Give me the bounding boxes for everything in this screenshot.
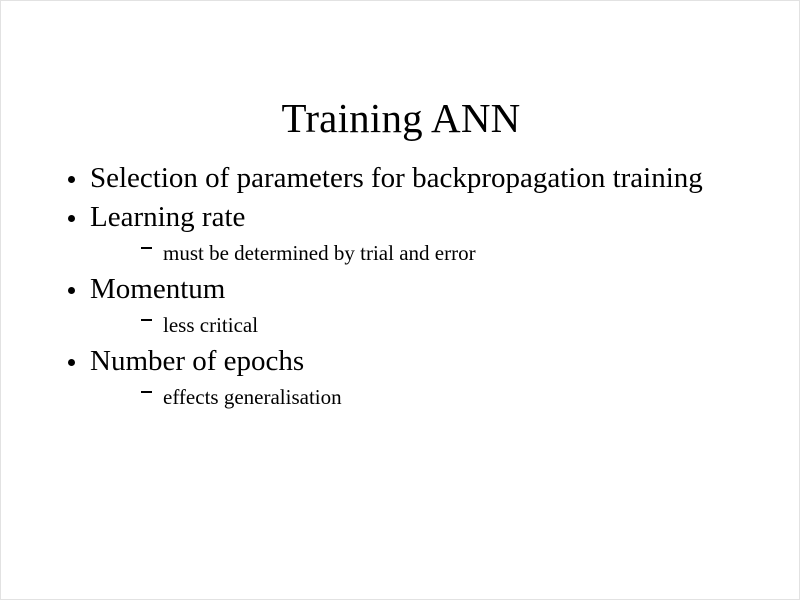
list-item: Learning rate must be determined by tria… [57,200,747,268]
sub-list-item: effects generalisation [90,382,747,412]
sub-bullet-text: less critical [163,310,747,340]
sub-list-item: less critical [90,310,747,340]
bullet-text: Selection of parameters for backpropagat… [90,161,705,196]
presentation-slide: Training ANN Selection of parameters for… [0,0,800,600]
bullet-dash-icon [141,391,152,393]
bullet-text: Momentum [90,272,705,307]
list-item: Momentum less critical [57,272,747,340]
slide-body: Selection of parameters for backpropagat… [57,161,747,416]
list-item: Selection of parameters for backpropagat… [57,161,747,196]
bullet-text: Number of epochs [90,344,705,379]
sub-bullet-text: must be determined by trial and error [163,238,747,268]
bullet-list: Selection of parameters for backpropagat… [57,161,747,412]
sub-list-item: must be determined by trial and error [90,238,747,268]
sub-bullet-text: effects generalisation [163,382,747,412]
bullet-dot-icon [68,287,75,294]
bullet-dash-icon [141,247,152,249]
sub-bullet-list: less critical [90,310,747,340]
bullet-dot-icon [68,215,75,222]
bullet-text: Learning rate [90,200,705,235]
bullet-dot-icon [68,359,75,366]
bullet-dash-icon [141,319,152,321]
sub-bullet-list: effects generalisation [90,382,747,412]
slide-title: Training ANN [1,94,800,142]
bullet-dot-icon [68,176,75,183]
sub-bullet-list: must be determined by trial and error [90,238,747,268]
list-item: Number of epochs effects generalisation [57,344,747,412]
